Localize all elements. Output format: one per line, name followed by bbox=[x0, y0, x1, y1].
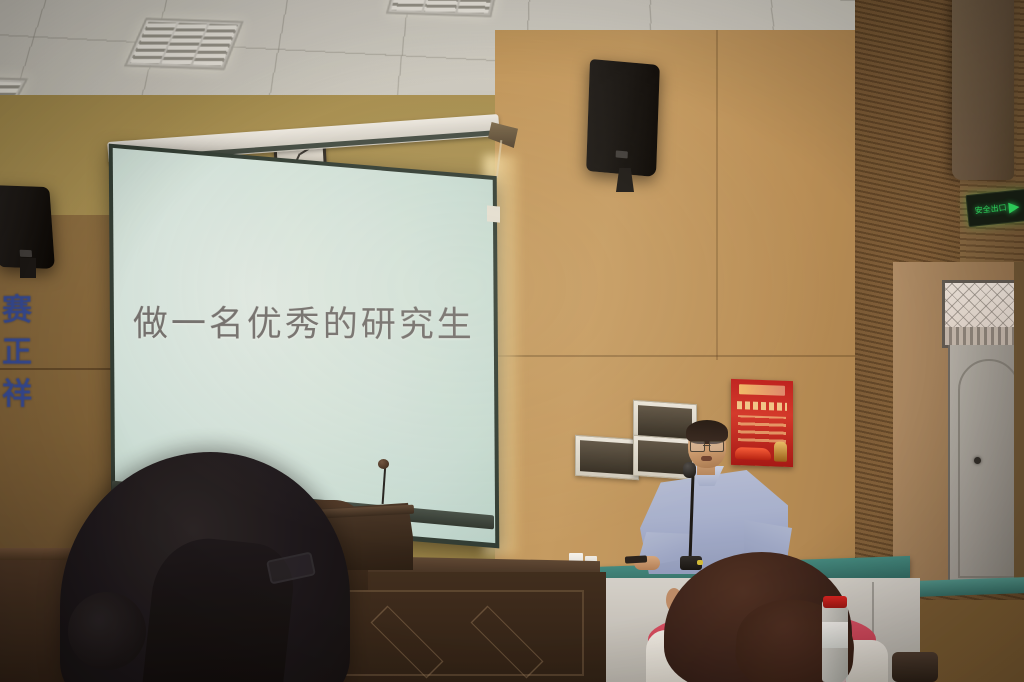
ceiling-speaker-left bbox=[0, 185, 55, 269]
poster-train-graphic bbox=[735, 447, 771, 460]
wall-seam bbox=[495, 355, 915, 357]
ceiling-speaker-right bbox=[586, 59, 660, 177]
speaker-bracket bbox=[20, 258, 36, 278]
poster-header bbox=[739, 384, 785, 396]
exit-sign-label: 安全出口 bbox=[974, 202, 1007, 216]
presenter-mouth bbox=[701, 456, 712, 461]
eyeglasses-icon bbox=[690, 441, 724, 450]
emergency-exit-sign: 安全出口 ▶ bbox=[965, 189, 1024, 227]
door-panel-molding bbox=[958, 359, 1020, 578]
presenter-microphone-head bbox=[683, 462, 696, 478]
screen-side-tab bbox=[487, 205, 500, 222]
poster-title-block bbox=[737, 401, 787, 411]
podium-microphone-head bbox=[378, 459, 389, 469]
running-person-icon: ▶ bbox=[1008, 199, 1020, 214]
microphone-indicator-led bbox=[697, 560, 703, 565]
transom-window bbox=[942, 280, 1024, 348]
ceiling-light-fixture bbox=[124, 18, 244, 70]
water-bottle-cap bbox=[823, 596, 847, 608]
lecture-hall-photo: 赛正祥 做一名优秀的研究生 安全出口 ▶ bbox=[0, 0, 1024, 682]
red-wall-poster bbox=[731, 379, 793, 467]
door-frame bbox=[1014, 262, 1024, 592]
wall-calligraphy: 赛正祥 bbox=[2, 290, 42, 416]
table-panel-molding bbox=[330, 590, 584, 676]
audience-left-hair-bun bbox=[68, 592, 146, 670]
door-knob[interactable] bbox=[974, 457, 981, 464]
poster-text-block bbox=[738, 415, 786, 443]
poster-figure-graphic bbox=[774, 441, 787, 461]
exit-door[interactable] bbox=[948, 345, 1024, 588]
wall-seam bbox=[716, 30, 718, 360]
remote-control[interactable] bbox=[625, 555, 647, 563]
electrical-panel bbox=[575, 435, 639, 480]
bag-on-desk bbox=[892, 652, 938, 682]
water-bottle-label bbox=[822, 622, 848, 648]
window-curtain bbox=[952, 0, 1014, 180]
slide-title-text: 做一名优秀的研究生 bbox=[114, 295, 494, 347]
